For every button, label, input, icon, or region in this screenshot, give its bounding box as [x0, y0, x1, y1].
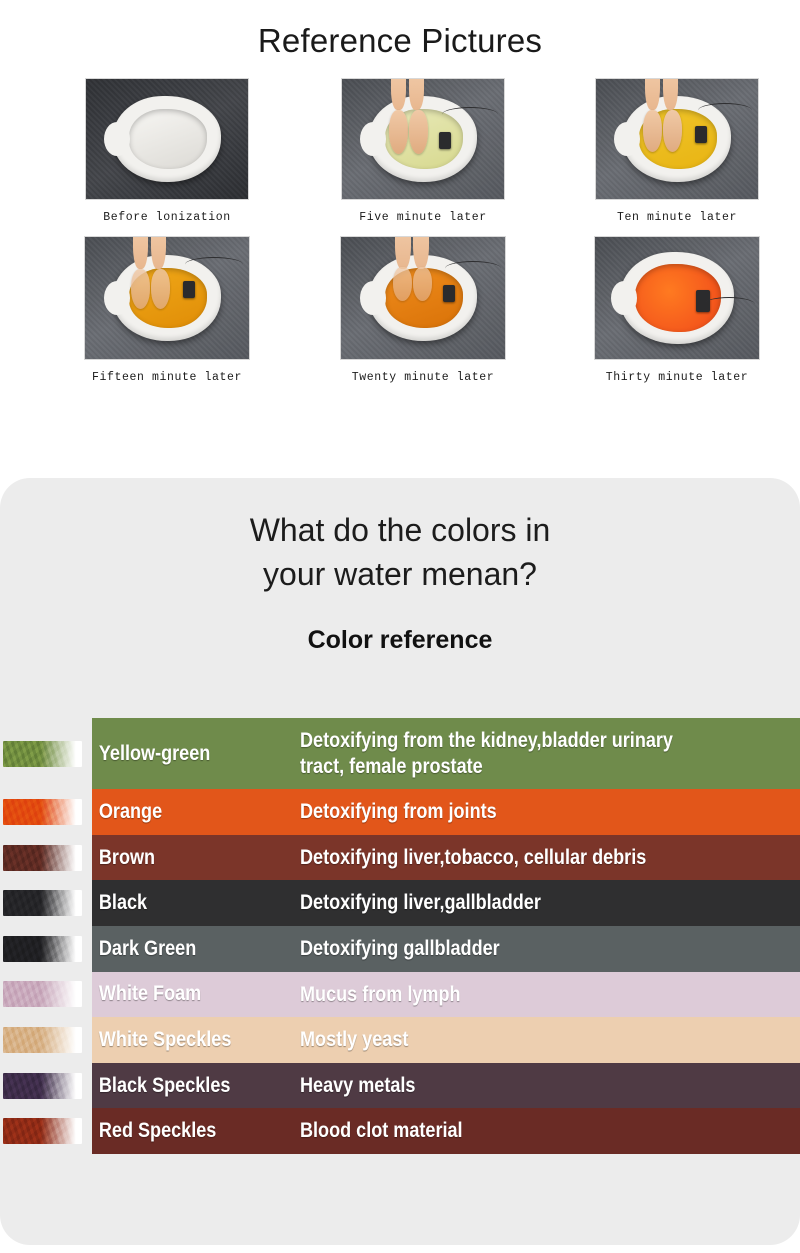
- foot-right: [151, 269, 170, 309]
- leg-right: [413, 236, 429, 269]
- color-description: Heavy metals: [300, 1073, 730, 1099]
- table-row: Yellow-greenDetoxifying from the kidney,…: [0, 718, 800, 789]
- color-name: Dark Green: [92, 937, 271, 961]
- table-row: Red SpecklesBlood clot material: [0, 1108, 800, 1154]
- color-swatch: [3, 936, 82, 962]
- page-title: Reference Pictures: [0, 0, 800, 60]
- photo-fifteen-minute: [84, 236, 250, 360]
- color-reference-card: What do the colors in your water menan? …: [0, 478, 800, 1245]
- foot-left: [643, 110, 662, 152]
- card-subtitle: Color reference: [0, 596, 800, 655]
- foot-left: [389, 110, 408, 154]
- leg-right: [151, 236, 166, 269]
- swatch-cell: [0, 718, 92, 789]
- electrode-array: [695, 126, 707, 143]
- leg-right: [409, 78, 424, 110]
- foot-right: [413, 267, 432, 301]
- foot-right: [663, 110, 682, 152]
- card-question-line-2: your water menan?: [0, 552, 800, 596]
- color-name: Black: [92, 891, 271, 915]
- photo-cell-twenty-minute: Twenty minute later: [300, 236, 546, 384]
- table-row: White SpecklesMostly yeast: [0, 1017, 800, 1063]
- swatch-cell: [0, 1108, 92, 1154]
- swatch-cell: [0, 880, 92, 926]
- color-swatch: [3, 741, 82, 767]
- swatch-cell: [0, 926, 92, 972]
- photo-twenty-minute: [340, 236, 506, 360]
- photo-cell-before-ionization: Before lonization: [44, 78, 290, 224]
- color-swatch: [3, 1027, 82, 1053]
- color-description: Mucus from lymph: [300, 982, 730, 1008]
- table-row: Black SpecklesHeavy metals: [0, 1063, 800, 1109]
- photo-caption: Fifteen minute later: [92, 371, 242, 384]
- photo-ten-minute: [595, 78, 759, 200]
- table-row: BrownDetoxifying liver,tobacco, cellular…: [0, 835, 800, 881]
- color-swatch: [3, 981, 82, 1007]
- color-swatch: [3, 1118, 82, 1144]
- electrode-wire: [698, 103, 752, 118]
- color-name: White Speckles: [92, 1028, 271, 1052]
- color-name: Orange: [92, 800, 271, 824]
- color-name: Black Speckles: [92, 1074, 271, 1098]
- leg-left: [133, 236, 148, 269]
- electrode-wire: [445, 261, 501, 276]
- color-description: Detoxifying liver,gallbladder: [300, 890, 730, 916]
- color-description: Detoxifying from joints: [300, 799, 730, 825]
- electrode-wire: [185, 257, 243, 272]
- electrode-array: [183, 281, 195, 298]
- table-row: BlackDetoxifying liver,gallbladder: [0, 880, 800, 926]
- color-swatch: [3, 799, 82, 825]
- row-body: Yellow-greenDetoxifying from the kidney,…: [92, 718, 800, 789]
- foot-right: [409, 110, 428, 154]
- color-name: Brown: [92, 846, 271, 870]
- table-row: White FoamMucus from lymph: [0, 972, 800, 1018]
- photo-grid: Before lonization Five minute later: [0, 78, 800, 396]
- row-body: White SpecklesMostly yeast: [92, 1017, 800, 1063]
- leg-left: [645, 78, 660, 110]
- photo-cell-five-minute: Five minute later: [300, 78, 546, 224]
- card-question-line-1: What do the colors in: [0, 508, 800, 552]
- table-row: Dark GreenDetoxifying gallbladder: [0, 926, 800, 972]
- photo-row-2: Fifteen minute later Twenty minute la: [0, 236, 800, 384]
- photo-thirty-minute: [594, 236, 760, 360]
- water-empty: [129, 109, 207, 169]
- photo-caption: Before lonization: [103, 211, 231, 224]
- color-swatch: [3, 890, 82, 916]
- photo-cell-ten-minute: Ten minute later: [554, 78, 800, 224]
- row-body: White FoamMucus from lymph: [92, 972, 800, 1018]
- color-description: Detoxifying gallbladder: [300, 936, 730, 962]
- row-body: BrownDetoxifying liver,tobacco, cellular…: [92, 835, 800, 881]
- color-description: Blood clot material: [300, 1118, 730, 1144]
- row-body: BlackDetoxifying liver,gallbladder: [92, 880, 800, 926]
- leg-left: [391, 78, 406, 110]
- swatch-cell: [0, 1063, 92, 1109]
- photo-caption: Ten minute later: [617, 211, 737, 224]
- swatch-cell: [0, 972, 92, 1018]
- card-question: What do the colors in your water menan?: [0, 478, 800, 596]
- row-body: Black SpecklesHeavy metals: [92, 1063, 800, 1109]
- reference-pictures-section: Reference Pictures Before lonization: [0, 0, 800, 478]
- color-description: Detoxifying from the kidney,bladder urin…: [300, 728, 730, 779]
- electrode-wire: [703, 297, 755, 312]
- photo-caption: Thirty minute later: [606, 371, 749, 384]
- foot-left: [131, 269, 150, 309]
- color-name: Yellow-green: [92, 742, 271, 766]
- electrode-array: [443, 285, 455, 302]
- row-body: Red SpecklesBlood clot material: [92, 1108, 800, 1154]
- color-reference-table: Yellow-greenDetoxifying from the kidney,…: [0, 718, 800, 1154]
- leg-right: [663, 78, 678, 110]
- leg-left: [395, 236, 411, 269]
- photo-before-ionization: [85, 78, 249, 200]
- row-body: Dark GreenDetoxifying gallbladder: [92, 926, 800, 972]
- color-name: Red Speckles: [92, 1119, 271, 1143]
- photo-cell-fifteen-minute: Fifteen minute later: [44, 236, 290, 384]
- foot-basin: [113, 96, 221, 182]
- color-description: Mostly yeast: [300, 1027, 730, 1053]
- table-row: OrangeDetoxifying from joints: [0, 789, 800, 835]
- photo-cell-thirty-minute: Thirty minute later: [554, 236, 800, 384]
- color-swatch: [3, 1073, 82, 1099]
- photo-row-1: Before lonization Five minute later: [0, 78, 800, 224]
- row-body: OrangeDetoxifying from joints: [92, 789, 800, 835]
- foot-left: [393, 267, 412, 301]
- color-description: Detoxifying liver,tobacco, cellular debr…: [300, 845, 730, 871]
- swatch-cell: [0, 835, 92, 881]
- photo-five-minute: [341, 78, 505, 200]
- color-swatch: [3, 845, 82, 871]
- photo-caption: Twenty minute later: [352, 371, 495, 384]
- electrode-array: [439, 132, 451, 149]
- photo-caption: Five minute later: [359, 211, 487, 224]
- color-name: White Foam: [92, 982, 271, 1006]
- swatch-cell: [0, 789, 92, 835]
- swatch-cell: [0, 1017, 92, 1063]
- electrode-wire: [442, 107, 498, 122]
